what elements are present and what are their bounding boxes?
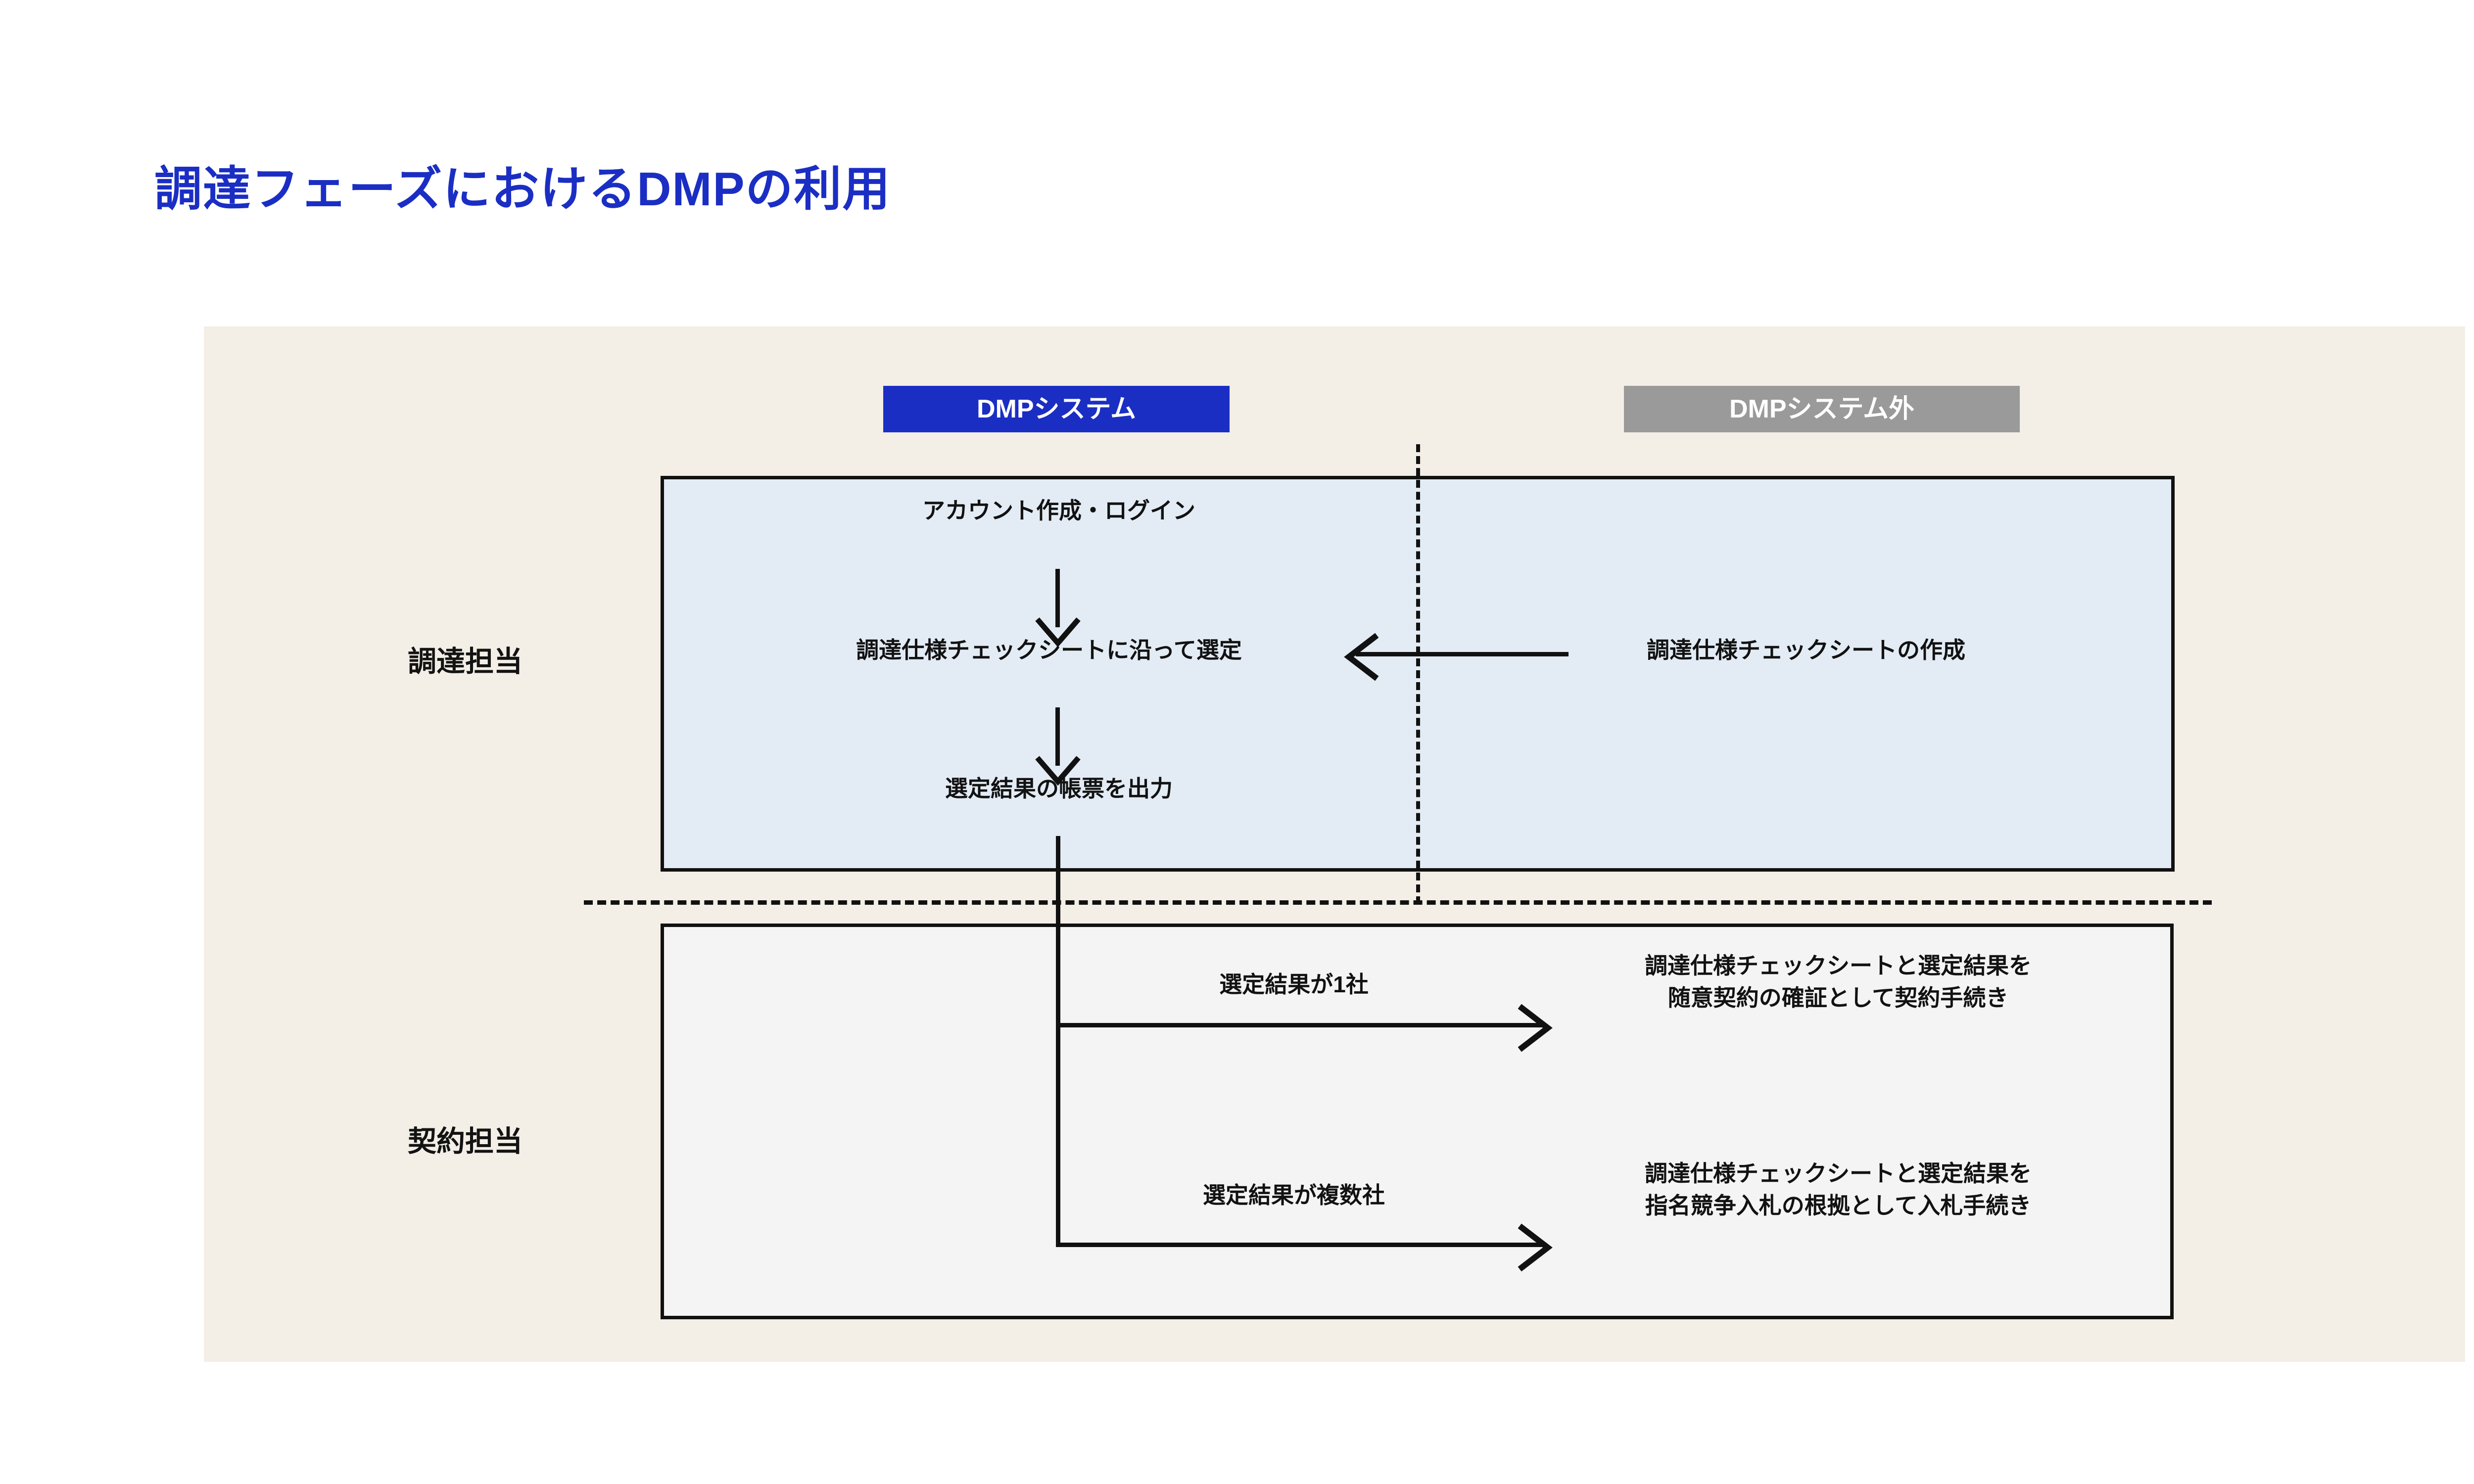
branch-condition-multi-vendor: 選定結果が複数社 [1084,1179,1504,1211]
outcome-direct-contract: 調達仕様チェックシートと選定結果を 随意契約の確証として契約手続き [1544,950,2133,1015]
branch-condition-single-vendor: 選定結果が1社 [1096,969,1492,1001]
outcome-competitive-bid-line2: 指名競争入札の根拠として入札手続き [1544,1190,2133,1222]
connector-checksheet-to-select [1356,652,1569,656]
lane-label-procurement: 調達担当 [346,638,584,680]
lane-divider-dashed [584,900,2212,905]
step-account-creation: アカウント作成・ログイン [708,495,1410,527]
diagram-canvas: 調達担当 契約担当 DMPシステム DMPシステム外 アカウント作成・ログイン … [204,326,2465,1362]
outcome-competitive-bid: 調達仕様チェックシートと選定結果を 指名競争入札の根拠として入札手続き [1544,1158,2133,1222]
badge-dmp-outside: DMPシステム外 [1624,386,2020,432]
connector-branch-multi-vendor [1056,1243,1546,1247]
outcome-competitive-bid-line1: 調達仕様チェックシートと選定結果を [1544,1158,2133,1190]
outcome-direct-contract-line2: 随意契約の確証として契約手続き [1544,982,2133,1014]
arrow-left-icon [1341,632,1380,682]
step-create-checksheet: 調達仕様チェックシートの作成 [1484,634,2128,666]
system-boundary-dashed [1416,444,1420,904]
outcome-direct-contract-line1: 調達仕様チェックシートと選定結果を [1544,950,2133,982]
badge-dmp-system: DMPシステム [883,386,1230,432]
page-title: 調達フェーズにおけるDMPの利用 [154,163,891,216]
connector-branch-single-vendor [1056,1023,1546,1027]
arrow-down-icon [1035,756,1081,790]
lane-label-contract: 契約担当 [346,1118,584,1159]
connector-report-trunk [1056,836,1060,1247]
arrow-down-icon [1035,617,1081,652]
arrow-right-icon [1515,1003,1555,1053]
arrow-right-icon [1515,1223,1555,1272]
